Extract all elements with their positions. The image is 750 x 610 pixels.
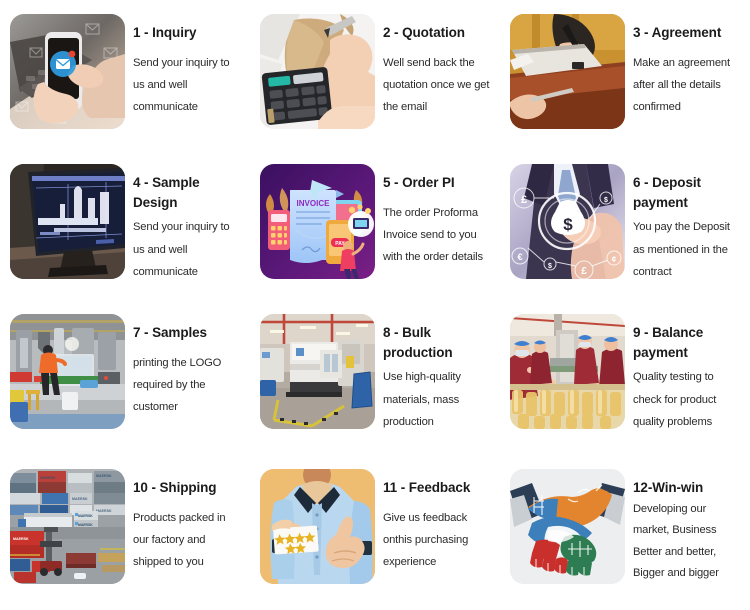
step-1-thumbnail[interactable]	[10, 14, 125, 129]
step-9-description: Quality testing to check for product qua…	[633, 366, 742, 433]
step-card-1[interactable]: 1 - Inquiry Send your inquiry to us and …	[0, 0, 250, 150]
svg-text:$: $	[563, 215, 573, 234]
step-8-description: Use high-quality materials, mass product…	[383, 366, 492, 433]
step-1-description: Send your inquiry to us and well communi…	[133, 52, 242, 119]
step-1-text: 1 - Inquiry Send your inquiry to us and …	[125, 14, 242, 119]
step-10-description: Products packed in our factory and shipp…	[133, 507, 242, 574]
cad-design-monitor-photo	[10, 164, 125, 279]
step-11-title: 11 - Feedback	[383, 478, 492, 498]
svg-text:MAERSK: MAERSK	[78, 523, 93, 527]
step-card-10[interactable]: MAERSKMAERSKMAERSKMAERSK MAERSKMAERSKMAE…	[0, 455, 250, 610]
step-12-description: Developing our market, Business Better a…	[633, 499, 742, 585]
step-4-thumbnail[interactable]	[10, 164, 125, 279]
injection-molding-machines-photo	[260, 314, 375, 429]
step-8-title: 8 - Bulk production	[383, 323, 492, 362]
production-line-inspection-photo	[510, 314, 625, 429]
step-card-2[interactable]: 2 - Quotation Well send back the quotati…	[250, 0, 500, 150]
step-7-thumbnail[interactable]	[10, 314, 125, 429]
step-9-title: 9 - Balance payment	[633, 323, 742, 362]
svg-text:MAERSK: MAERSK	[13, 537, 29, 541]
money-bag-currency-icons-photo: $ £ $ € $ £ ¢	[510, 164, 625, 279]
step-5-text: 5 - Order PI The order Proforma Invoice …	[375, 164, 492, 269]
step-7-text: 7 - Samples printing the LOGO required b…	[125, 314, 242, 419]
svg-text:MAERSK: MAERSK	[78, 514, 93, 518]
step-1-title: 1 - Inquiry	[133, 23, 242, 43]
step-10-text: 10 - Shipping Products packed in our fac…	[125, 469, 242, 574]
step-card-7[interactable]: 7 - Samples printing the LOGO required b…	[0, 300, 250, 455]
step-card-11[interactable]: 11 - Feedback Give us feedback onthis pu…	[250, 455, 500, 610]
step-3-title: 3 - Agreement	[633, 23, 742, 43]
signing-contract-photo	[510, 14, 625, 129]
step-11-thumbnail[interactable]	[260, 469, 375, 584]
svg-text:MAERSK: MAERSK	[96, 509, 112, 513]
svg-text:MAERSK: MAERSK	[96, 474, 112, 478]
svg-text:INVOICE: INVOICE	[297, 199, 331, 208]
shipping-containers-port-photo: MAERSKMAERSKMAERSKMAERSK MAERSKMAERSKMAE…	[10, 469, 125, 584]
hand-holding-phone-email-icon-photo	[10, 14, 125, 129]
step-3-text: 3 - Agreement Make an agreement after al…	[625, 14, 742, 119]
step-3-thumbnail[interactable]	[510, 14, 625, 129]
step-12-thumbnail[interactable]	[510, 469, 625, 584]
step-10-title: 10 - Shipping	[133, 478, 242, 498]
svg-text:£: £	[521, 194, 527, 206]
step-6-description: You pay the Deposit as mentioned in the …	[633, 216, 742, 283]
step-card-8[interactable]: 8 - Bulk production Use high-quality mat…	[250, 300, 500, 455]
step-4-title: 4 - Sample Design	[133, 173, 242, 212]
step-2-thumbnail[interactable]	[260, 14, 375, 129]
step-11-description: Give us feedback onthis purchasing exper…	[383, 507, 492, 574]
step-7-description: printing the LOGO required by the custom…	[133, 352, 242, 419]
step-2-text: 2 - Quotation Well send back the quotati…	[375, 14, 492, 119]
process-steps-grid: 1 - Inquiry Send your inquiry to us and …	[0, 0, 750, 610]
hand-writing-with-calculator-photo	[260, 14, 375, 129]
step-card-9[interactable]: 9 - Balance payment Quality testing to c…	[500, 300, 750, 455]
svg-text:£: £	[581, 266, 587, 277]
five-star-review-thumbs-up-photo	[260, 469, 375, 584]
step-8-text: 8 - Bulk production Use high-quality mat…	[375, 314, 492, 433]
step-11-text: 11 - Feedback Give us feedback onthis pu…	[375, 469, 492, 574]
step-12-title: 12-Win-win	[633, 478, 742, 498]
step-9-text: 9 - Balance payment Quality testing to c…	[625, 314, 742, 433]
colorful-handshake-illustration	[510, 469, 625, 584]
svg-text:¢: ¢	[612, 255, 617, 264]
step-10-thumbnail[interactable]: MAERSKMAERSKMAERSKMAERSK MAERSKMAERSKMAE…	[10, 469, 125, 584]
factory-worker-machine-photo	[10, 314, 125, 429]
step-2-description: Well send back the quotation once we get…	[383, 52, 492, 119]
step-card-4[interactable]: 4 - Sample Design Send your inquiry to u…	[0, 150, 250, 300]
step-card-12[interactable]: 12-Win-win Developing our market, Busine…	[500, 455, 750, 610]
step-card-5[interactable]: INVOICE PAY	[250, 150, 500, 300]
svg-text:€: €	[517, 252, 522, 262]
step-7-title: 7 - Samples	[133, 323, 242, 343]
step-5-thumbnail[interactable]: INVOICE PAY	[260, 164, 375, 279]
step-6-title: 6 - Deposit payment	[633, 173, 742, 212]
svg-text:MAERSK: MAERSK	[40, 476, 56, 480]
step-9-thumbnail[interactable]	[510, 314, 625, 429]
step-6-text: 6 - Deposit payment You pay the Deposit …	[625, 164, 742, 283]
svg-text:MAERSK: MAERSK	[72, 497, 88, 501]
step-card-3[interactable]: 3 - Agreement Make an agreement after al…	[500, 0, 750, 150]
step-card-6[interactable]: $ £ $ € $ £ ¢ 6 - Deposit payment You pa…	[500, 150, 750, 300]
svg-text:$: $	[604, 197, 608, 204]
step-3-description: Make an agreement after all the details …	[633, 52, 742, 119]
step-5-title: 5 - Order PI	[383, 173, 492, 193]
step-5-description: The order Proforma Invoice send to you w…	[383, 202, 492, 269]
step-12-text: 12-Win-win Developing our market, Busine…	[625, 469, 742, 585]
svg-text:$: $	[548, 263, 552, 270]
invoice-illustration: INVOICE PAY	[260, 164, 375, 279]
step-2-title: 2 - Quotation	[383, 23, 492, 43]
step-8-thumbnail[interactable]	[260, 314, 375, 429]
step-4-text: 4 - Sample Design Send your inquiry to u…	[125, 164, 242, 283]
step-6-thumbnail[interactable]: $ £ $ € $ £ ¢	[510, 164, 625, 279]
step-4-description: Send your inquiry to us and well communi…	[133, 216, 242, 283]
